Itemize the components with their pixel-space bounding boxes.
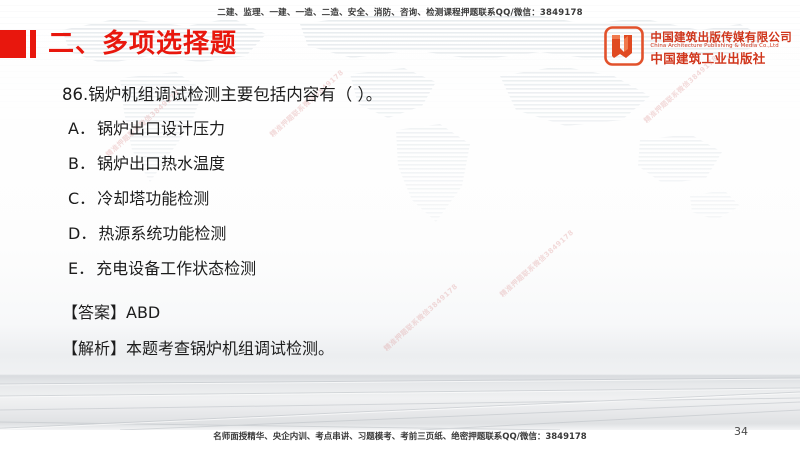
title-bar-icon [30,30,36,58]
analysis-line: 【解析】本题考查锅炉机组调试检测。 [62,338,722,360]
option-e-letter: E． [68,259,94,278]
footer-text: 名师面授精华、央企内训、考点串讲、习题模考、考前三页纸、绝密押题联系QQ/微信：… [0,431,800,443]
floor-band [0,376,800,430]
option-d-text: 热源系统功能检测 [98,224,226,243]
option-b-letter: B． [68,154,95,173]
option-c-text: 冷却塔功能检测 [97,189,209,208]
content-spacer [62,293,722,302]
floor-perspective-lines [0,376,800,430]
publisher-logo-icon [604,26,644,70]
publisher-company-en: China Architecture Publishing & Media Co… [650,44,792,50]
publisher-logo: 中国建筑出版传媒有限公司 China Architecture Publishi… [604,26,792,70]
publisher-press-cn: 中国建筑工业出版社 [650,52,792,65]
option-e: E．充电设备工作状态检测 [68,258,722,280]
option-a-text: 锅炉出口设计压力 [97,119,225,138]
top-banner-text: 二建、监理、一建、一造、二造、安全、消防、咨询、检测课程押题联系QQ/微信：38… [0,7,800,19]
option-c-letter: C． [68,189,95,208]
title-square-icon [0,30,26,58]
option-d: D．热源系统功能检测 [68,223,722,245]
publisher-logo-text: 中国建筑出版传媒有限公司 China Architecture Publishi… [650,31,792,65]
option-b: B．锅炉出口热水温度 [68,153,722,175]
slide-canvas: 二建、监理、一建、一造、二造、安全、消防、咨询、检测课程押题联系QQ/微信：38… [0,0,800,450]
option-a-letter: A． [68,119,95,138]
publisher-company-cn: 中国建筑出版传媒有限公司 [650,31,792,43]
question-stem: 86.锅炉机组调试检测主要包括内容有（ ）。 [62,82,722,108]
section-title-row: 二、多项选择题 [0,28,237,60]
option-a: A．锅炉出口设计压力 [68,118,722,140]
option-c: C．冷却塔功能检测 [68,188,722,210]
section-title: 二、多项选择题 [48,29,237,59]
option-b-text: 锅炉出口热水温度 [97,154,225,173]
floor-edge [0,374,800,376]
option-d-letter: D． [68,224,96,243]
option-e-text: 充电设备工作状态检测 [96,259,256,278]
question-content: 86.锅炉机组调试检测主要包括内容有（ ）。 A．锅炉出口设计压力 B．锅炉出口… [62,82,722,374]
page-number: 34 [734,425,748,438]
answer-line: 【答案】ABD [62,302,722,324]
